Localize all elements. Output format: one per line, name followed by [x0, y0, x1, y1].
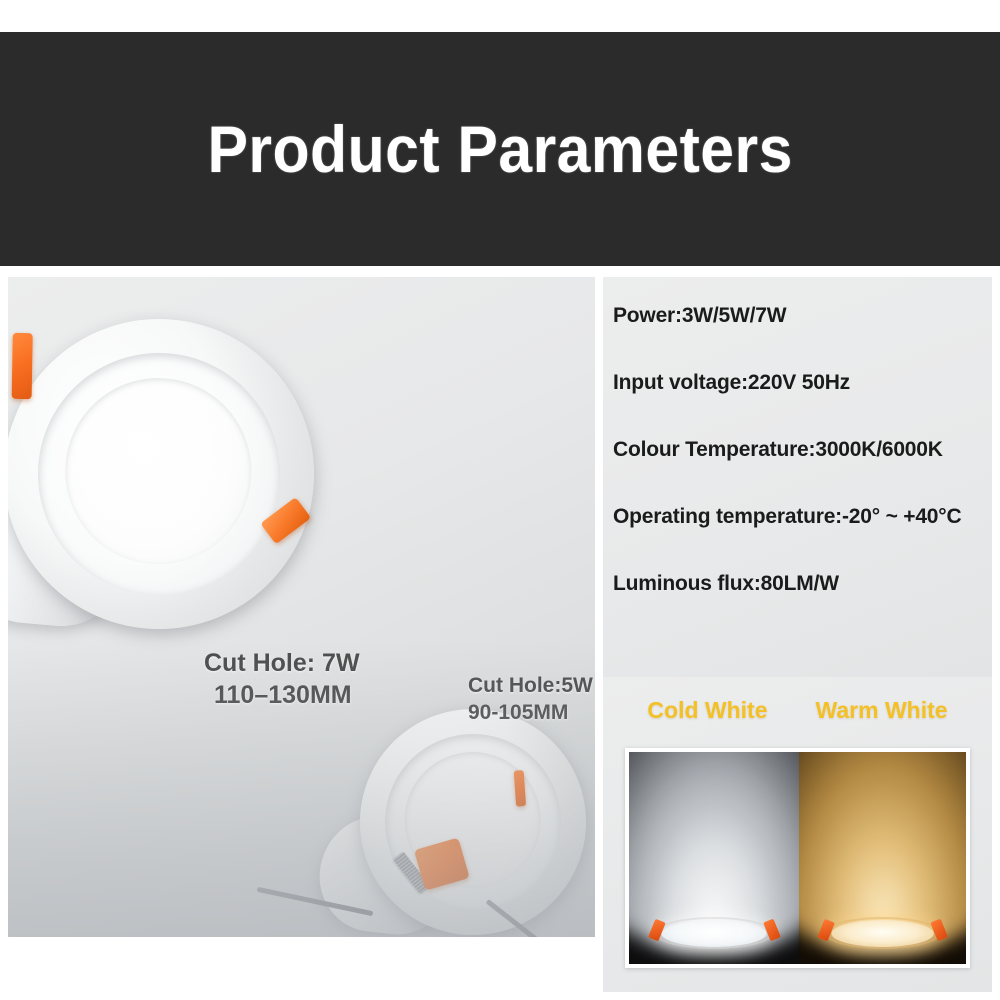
callout-7w-line2: 110–130MM [204, 679, 360, 711]
downlight-fixture-7w [8, 288, 345, 660]
cold-white-label: Cold White [647, 697, 767, 724]
fixture-lens [662, 920, 767, 947]
spec-input-voltage: Input voltage:220V 50Hz [613, 372, 992, 393]
colour-comparison-inner [629, 752, 966, 964]
fixture-lens [831, 920, 934, 947]
page-title: Product Parameters [207, 111, 792, 187]
callout-5w-line1: Cut Hole:5W [468, 673, 593, 700]
spec-colour-temperature: Colour Temperature:3000K/6000K [613, 439, 992, 460]
header-banner: Product Parameters [0, 32, 1000, 266]
warm-white-sample [799, 752, 966, 964]
callout-7w-line1: Cut Hole: 7W [204, 647, 360, 679]
callout-cut-hole-5w: Cut Hole:5W 90-105MM [468, 673, 593, 727]
callout-5w-line2: 90-105MM [468, 700, 593, 727]
colour-comparison-labels: Cold White Warm White [603, 697, 992, 724]
spec-power: Power:3W/5W/7W [613, 305, 992, 326]
spring-clip-upper [12, 333, 33, 399]
spec-operating-temperature: Operating temperature:-20° ~ +40°C [613, 506, 992, 527]
colour-comparison-block: Cold White Warm White [603, 677, 992, 992]
warm-downlight-fixture [824, 917, 941, 949]
specification-panel: Power:3W/5W/7W Input voltage:220V 50Hz C… [603, 277, 992, 677]
cold-downlight-fixture [655, 917, 774, 949]
callout-cut-hole-7w: Cut Hole: 7W 110–130MM [204, 647, 360, 711]
product-photo-panel: Cut Hole: 7W 110–130MM Cut Hole:5W 90-10… [8, 277, 595, 937]
downlight-fixture-5w [342, 691, 595, 937]
colour-comparison-photo [625, 748, 970, 968]
cold-white-sample [629, 752, 799, 964]
spec-luminous-flux: Luminous flux:80LM/W [613, 573, 992, 594]
warm-white-label: Warm White [816, 697, 948, 724]
spec-list: Power:3W/5W/7W Input voltage:220V 50Hz C… [613, 305, 992, 640]
